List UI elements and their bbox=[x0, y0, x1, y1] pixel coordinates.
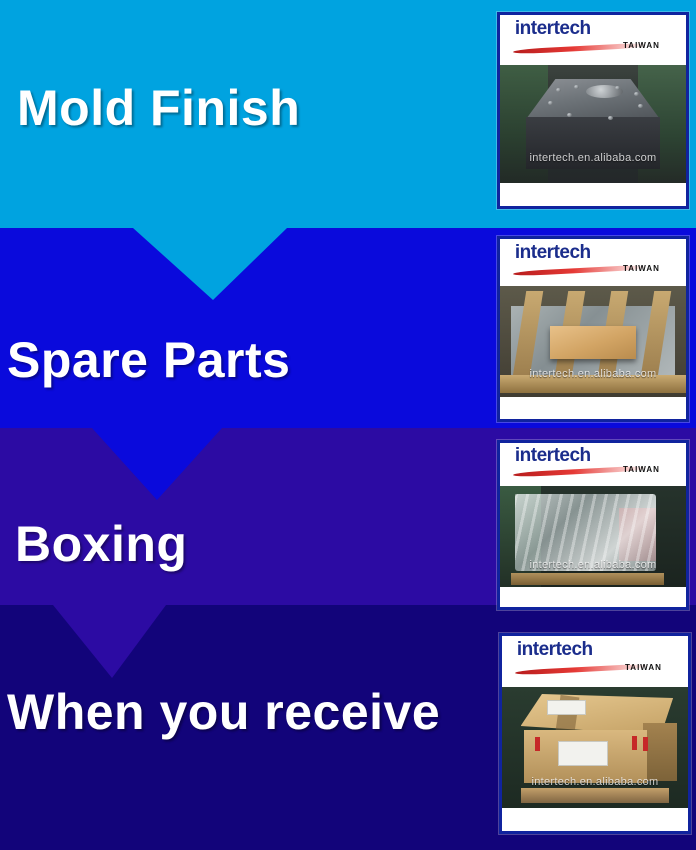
crate-label-front bbox=[558, 741, 608, 766]
photo-spare-parts[interactable]: intertech TAIWAN intertech.en.alibaba.co… bbox=[497, 236, 689, 422]
logo-tech: tech bbox=[554, 242, 591, 263]
photo-boxing[interactable]: intertech TAIWAN intertech.en.alibaba.co… bbox=[497, 440, 689, 610]
photo-footer-strip bbox=[500, 587, 686, 607]
logo-wordmark: intertech bbox=[515, 243, 591, 262]
logo-tech: tech bbox=[556, 639, 593, 660]
slide-canvas: Mold Finish Spare Parts Boxing When you … bbox=[0, 0, 696, 850]
boxing-scene bbox=[500, 486, 686, 588]
band-label-mold-finish: Mold Finish bbox=[17, 83, 300, 133]
photo-footer-strip bbox=[500, 397, 686, 419]
logo-wordmark: intertech bbox=[515, 446, 591, 465]
photo-body: intertech.en.alibaba.com bbox=[502, 687, 688, 808]
logo-tech: tech bbox=[554, 445, 591, 466]
band-label-spare-parts: Spare Parts bbox=[7, 335, 290, 385]
spare-parts-scene bbox=[500, 286, 686, 398]
intertech-logo: intertech TAIWAN bbox=[500, 15, 686, 65]
crate-side bbox=[643, 723, 676, 781]
shrink-wrap bbox=[515, 494, 656, 571]
logo-country: TAIWAN bbox=[625, 664, 662, 672]
photo-body: intertech.en.alibaba.com bbox=[500, 486, 686, 588]
crate-scene bbox=[502, 687, 688, 808]
logo-wordmark: intertech bbox=[515, 19, 591, 38]
crate-base bbox=[521, 788, 670, 803]
logo-inter: inter bbox=[515, 445, 554, 466]
intertech-logo: intertech TAIWAN bbox=[500, 443, 686, 486]
intertech-logo: intertech TAIWAN bbox=[500, 239, 686, 286]
logo-wordmark: intertech bbox=[517, 640, 593, 659]
logo-country: TAIWAN bbox=[623, 42, 660, 50]
logo-tech: tech bbox=[554, 18, 591, 39]
photo-inner: intertech TAIWAN intertech.en.ali bbox=[502, 636, 688, 831]
photo-inner: intertech TAIWAN intertech.en.alibaba.co… bbox=[500, 239, 686, 419]
photo-footer-strip bbox=[502, 808, 688, 831]
logo-inter: inter bbox=[515, 18, 554, 39]
photo-when-you-receive[interactable]: intertech TAIWAN intertech.en.ali bbox=[499, 633, 691, 834]
mold-body bbox=[526, 117, 660, 169]
photo-inner: intertech TAIWAN intertech.en.alibaba.co… bbox=[500, 443, 686, 607]
mold-scene bbox=[500, 65, 686, 183]
photo-mold-finish[interactable]: intertech TAIWAN bbox=[497, 12, 689, 209]
intertech-logo: intertech TAIWAN bbox=[502, 636, 688, 687]
wood-pallet bbox=[511, 573, 664, 585]
logo-inter: inter bbox=[517, 639, 556, 660]
logo-country: TAIWAN bbox=[623, 466, 660, 474]
photo-body: intertech.en.alibaba.com bbox=[500, 65, 686, 183]
logo-country: TAIWAN bbox=[623, 265, 660, 273]
photo-body: intertech.en.alibaba.com bbox=[500, 286, 686, 398]
logo-inter: inter bbox=[515, 242, 554, 263]
band-label-boxing: Boxing bbox=[15, 519, 187, 569]
photo-footer-strip bbox=[500, 183, 686, 206]
wrapped-part bbox=[550, 326, 636, 359]
crate-rail bbox=[500, 375, 686, 393]
photo-inner: intertech TAIWAN bbox=[500, 15, 686, 206]
band-label-when-you-receive: When you receive bbox=[7, 687, 440, 737]
crate-label-top bbox=[547, 700, 586, 715]
